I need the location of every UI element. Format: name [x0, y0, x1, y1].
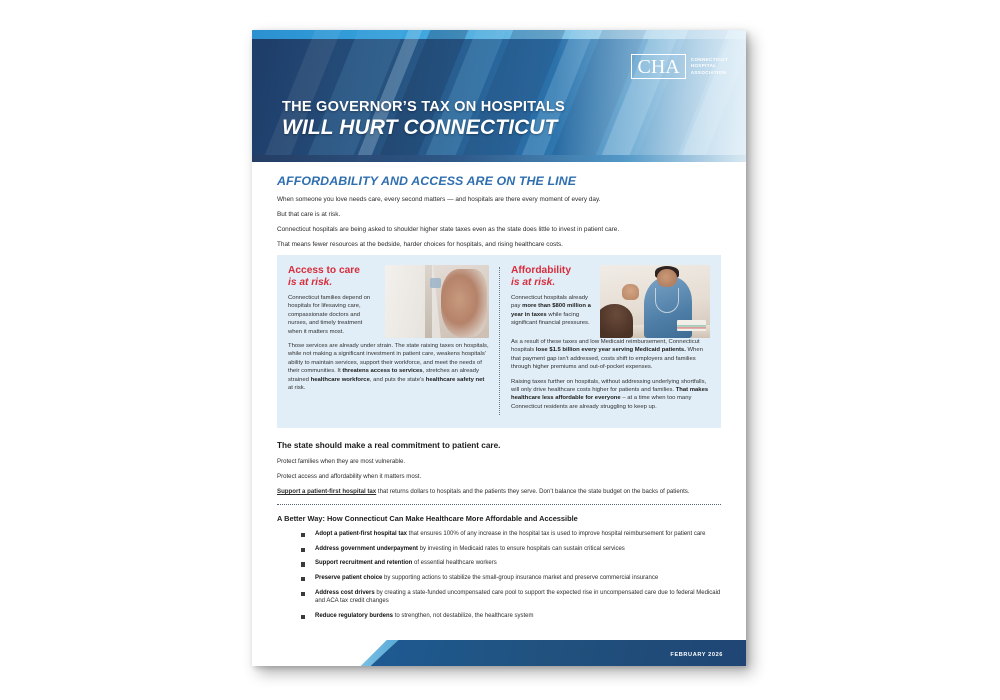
risk-panels: Access to care is at risk. Connecticut f…	[277, 255, 721, 428]
commitment-line-1: Protect families when they are most vuln…	[277, 457, 721, 466]
intro-paragraph: That means fewer resources at the bedsid…	[277, 240, 721, 249]
page-footer: FEBRUARY 2026	[252, 632, 746, 666]
cha-logo-line3: ASSOCIATION	[691, 70, 728, 76]
panel-access-top: Access to care is at risk. Connecticut f…	[288, 265, 489, 342]
panel-affordability-heading-line1: Affordability	[511, 265, 571, 276]
banner-title-line2: WILL HURT CONNECTICUT	[282, 116, 565, 140]
cha-logo-text: CONNECTICUT HOSPITAL ASSOCIATION	[691, 57, 728, 76]
photo-patient	[600, 304, 633, 338]
panel-access-heading: Access to care is at risk.	[288, 265, 377, 289]
panel-access-heading-line1: Access to care	[288, 265, 360, 276]
footer-bar: FEBRUARY 2026	[371, 640, 746, 666]
panel-access-textcol: Access to care is at risk. Connecticut f…	[288, 265, 377, 342]
panel-access-paragraph-1: Connecticut families depend on hospitals…	[288, 294, 377, 336]
panel-affordability-textcol: Affordability is at risk. Connecticut ho…	[511, 265, 592, 338]
commitment-line-3: Support a patient-first hospital tax tha…	[277, 487, 721, 496]
document-page: CHA CONNECTICUT HOSPITAL ASSOCIATION THE…	[252, 30, 746, 666]
panel-access-to-care: Access to care is at risk. Connecticut f…	[288, 265, 499, 417]
photo-blue-accent	[430, 278, 441, 288]
bedside-hands-photo	[385, 265, 489, 338]
photo-books	[677, 320, 706, 330]
intro-paragraph: But that care is at risk.	[277, 210, 721, 219]
clinician-consultation-photo	[600, 265, 710, 338]
photo-hand	[622, 284, 639, 300]
document-body: AFFORDABILITY AND ACCESS ARE ON THE LINE…	[252, 162, 746, 620]
panel-affordability-paragraph-2: As a result of these taxes and low Medic…	[511, 338, 710, 372]
panel-affordability-heading-line2: is at risk.	[511, 277, 592, 289]
better-way-list-item: Reduce regulatory burdens to strengthen,…	[301, 612, 721, 621]
better-way-list-item: Address cost drivers by creating a state…	[301, 589, 721, 606]
panel-dotted-separator	[499, 267, 500, 415]
cha-logo: CHA CONNECTICUT HOSPITAL ASSOCIATION	[631, 54, 728, 79]
intro-heading: AFFORDABILITY AND ACCESS ARE ON THE LINE	[277, 174, 721, 188]
commitment-heading: The state should make a real commitment …	[277, 441, 721, 450]
cha-logo-mark: CHA	[631, 54, 685, 79]
banner-bottom-strip	[252, 155, 746, 162]
banner-photo-overlay	[556, 30, 746, 162]
panel-access-paragraph-2: Those services are already under strain.…	[288, 342, 489, 392]
intro-paragraph: Connecticut hospitals are being asked to…	[277, 225, 721, 234]
better-way-list-item: Support recruitment and retention of ess…	[301, 559, 721, 568]
panel-affordability: Affordability is at risk. Connecticut ho…	[499, 265, 710, 417]
intro-paragraph: When someone you love needs care, every …	[277, 195, 721, 204]
panel-access-heading-line2: is at risk.	[288, 277, 377, 289]
better-way-list: Adopt a patient-first hospital tax that …	[277, 530, 721, 620]
banner-title-block: THE GOVERNOR’S TAX ON HOSPITALS WILL HUR…	[282, 99, 565, 140]
intro-paragraphs: When someone you love needs care, every …	[277, 195, 721, 249]
section-dotted-rule	[277, 504, 721, 505]
photo-face	[657, 269, 677, 287]
better-way-heading: A Better Way: How Connecticut Can Make H…	[277, 514, 721, 523]
panel-affordability-paragraph-3: Raising taxes further on hospitals, with…	[511, 378, 710, 412]
better-way-list-item: Preserve patient choice by supporting ac…	[301, 574, 721, 583]
screenshot-stage: CHA CONNECTICUT HOSPITAL ASSOCIATION THE…	[0, 0, 1000, 700]
photo-band	[425, 265, 432, 338]
better-way-list-item: Address government underpayment by inves…	[301, 545, 721, 554]
header-banner: CHA CONNECTICUT HOSPITAL ASSOCIATION THE…	[252, 30, 746, 162]
panel-affordability-paragraph-1: Connecticut hospitals already pay more t…	[511, 294, 592, 328]
panel-affordability-heading: Affordability is at risk.	[511, 265, 592, 289]
footer-date: FEBRUARY 2026	[670, 652, 723, 658]
commitment-line-2: Protect access and affordability when it…	[277, 472, 721, 481]
banner-title-line1: THE GOVERNOR’S TAX ON HOSPITALS	[282, 99, 565, 115]
better-way-list-item: Adopt a patient-first hospital tax that …	[301, 530, 721, 539]
panel-affordability-top: Affordability is at risk. Connecticut ho…	[511, 265, 710, 338]
